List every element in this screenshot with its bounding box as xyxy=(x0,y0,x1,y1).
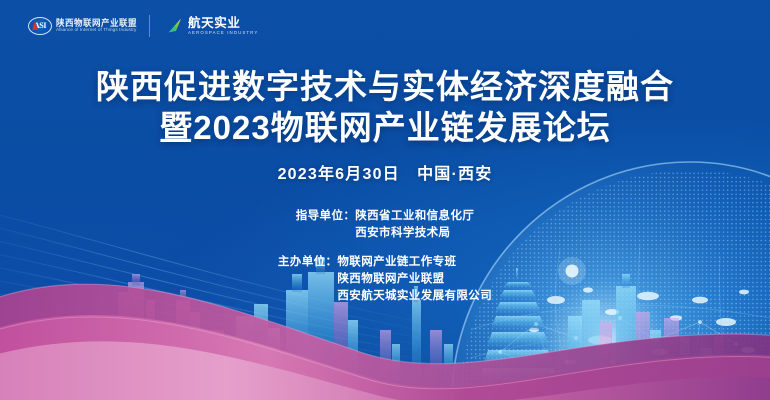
host-unit: 西安航天城实业发展有限公司 xyxy=(337,288,492,305)
aerospace-name-cn: 航天实业 xyxy=(188,17,258,30)
asi-circle-logo-icon: ASI xyxy=(28,17,52,35)
header-logo-bar: ASI 陕西物联网产业联盟 Alliance of Internet of Th… xyxy=(28,10,258,42)
aerospace-name-en: AEROSPACE INDUSTRY xyxy=(188,31,258,35)
event-poster: ASI 陕西物联网产业联盟 Alliance of Internet of Th… xyxy=(0,0,770,400)
logo-alliance[interactable]: ASI 陕西物联网产业联盟 Alliance of Internet of Th… xyxy=(28,17,137,35)
host-label: 主办单位： xyxy=(278,254,338,271)
event-date-location: 2023年6月30日 中国·西安 xyxy=(0,160,770,184)
host-unit: 陕西物联网产业联盟 xyxy=(337,271,492,288)
guidance-label: 指导单位： xyxy=(296,208,356,225)
network-node-lines xyxy=(500,318,736,372)
organizer-row-host: 主办单位： 物联网产业链工作专班 陕西物联网产业联盟 西安航天城实业发展有限公司 xyxy=(278,254,492,305)
alliance-name-en: Alliance of Internet of Things Industry xyxy=(56,28,137,33)
organizer-block: 指导单位： 陕西省工业和信息化厅 西安市科学技术局 主办单位： 物联网产业链工作… xyxy=(0,208,770,305)
alliance-name-cn: 陕西物联网产业联盟 xyxy=(56,19,137,28)
title-line-2: 暨2023物联网产业链发展论坛 xyxy=(0,107,770,148)
guidance-unit: 陕西省工业和信息化厅 xyxy=(355,208,474,225)
organizer-row-guidance: 指导单位： 陕西省工业和信息化厅 西安市科学技术局 xyxy=(296,208,475,242)
network-nodes xyxy=(498,316,738,374)
host-unit: 物联网产业链工作专班 xyxy=(337,254,492,271)
guidance-unit: 西安市科学技术局 xyxy=(355,225,474,242)
logo-divider xyxy=(149,15,150,37)
title-line-1: 陕西促进数字技术与实体经济深度融合 xyxy=(0,66,770,107)
background-decoration xyxy=(0,0,770,400)
poster-title: 陕西促进数字技术与实体经济深度融合 暨2023物联网产业链发展论坛 xyxy=(0,66,770,148)
aerospace-check-logo-icon xyxy=(162,17,182,35)
logo-aerospace[interactable]: 航天实业 AEROSPACE INDUSTRY xyxy=(162,17,258,35)
